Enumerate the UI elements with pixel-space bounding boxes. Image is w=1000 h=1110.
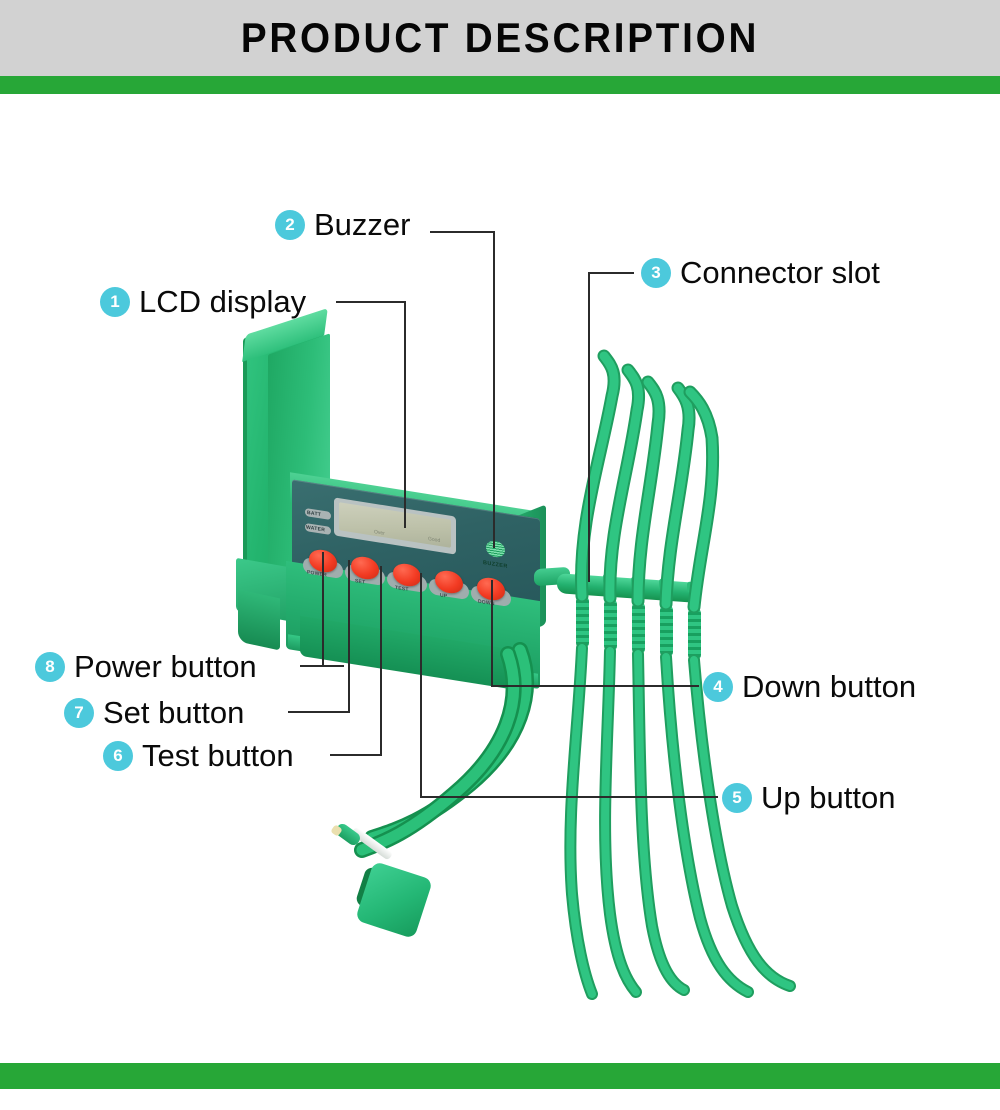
callout-label-2: Buzzer bbox=[314, 208, 410, 242]
callout-label-4: Down button bbox=[742, 670, 916, 704]
callout-badge-2: 2 bbox=[275, 210, 305, 240]
leader-line-connector-slot bbox=[588, 272, 590, 582]
callout-up-button[interactable]: 5 Up button bbox=[722, 781, 895, 815]
callout-label-1: LCD display bbox=[139, 285, 306, 319]
callout-badge-4: 4 bbox=[703, 672, 733, 702]
leader-line-lcd-display bbox=[404, 301, 406, 528]
leader-line-set-button bbox=[348, 560, 350, 713]
header-green-rule bbox=[0, 76, 1000, 94]
callout-lcd-display[interactable]: 1 LCD display bbox=[100, 285, 306, 319]
leader-line-down-button bbox=[491, 580, 493, 687]
leader-line-buzzer bbox=[493, 231, 495, 548]
leader-line-test-button bbox=[330, 754, 382, 756]
callout-connector-slot[interactable]: 3 Connector slot bbox=[641, 256, 880, 290]
leader-line-connector-slot bbox=[588, 272, 634, 274]
callout-test-button[interactable]: 6 Test button bbox=[103, 739, 294, 773]
callout-buzzer[interactable]: 2 Buzzer bbox=[275, 208, 410, 242]
leader-line-lcd-display bbox=[336, 301, 406, 303]
leader-line-test-button bbox=[380, 566, 382, 756]
callout-label-7: Set button bbox=[103, 696, 244, 730]
callout-down-button[interactable]: 4 Down button bbox=[703, 670, 916, 704]
callout-set-button[interactable]: 7 Set button bbox=[64, 696, 244, 730]
leader-line-power-button bbox=[322, 552, 324, 667]
page-title: PRODUCT DESCRIPTION bbox=[40, 14, 960, 62]
callout-badge-5: 5 bbox=[722, 783, 752, 813]
callout-badge-3: 3 bbox=[641, 258, 671, 288]
leader-line-up-button bbox=[420, 573, 422, 798]
leader-line-buzzer bbox=[430, 231, 495, 233]
footer-green-rule bbox=[0, 1063, 1000, 1089]
callout-label-6: Test button bbox=[142, 739, 294, 773]
leader-line-down-button bbox=[491, 685, 699, 687]
callout-label-8: Power button bbox=[74, 650, 257, 684]
callout-badge-6: 6 bbox=[103, 741, 133, 771]
callout-badge-1: 1 bbox=[100, 287, 130, 317]
leader-line-set-button bbox=[288, 711, 350, 713]
callout-label-5: Up button bbox=[761, 781, 895, 815]
callout-power-button[interactable]: 8 Power button bbox=[35, 650, 257, 684]
leader-line-up-button bbox=[420, 796, 718, 798]
product-description-page: PRODUCT DESCRIPTION BATT WATER Over Good… bbox=[0, 0, 1000, 1110]
callout-badge-7: 7 bbox=[64, 698, 94, 728]
callout-label-3: Connector slot bbox=[680, 256, 880, 290]
product-photo: BATT WATER Over Good BUZZER POWER SET TE… bbox=[0, 94, 1000, 1063]
callout-badge-8: 8 bbox=[35, 652, 65, 682]
cable-bundle bbox=[0, 94, 1000, 1063]
